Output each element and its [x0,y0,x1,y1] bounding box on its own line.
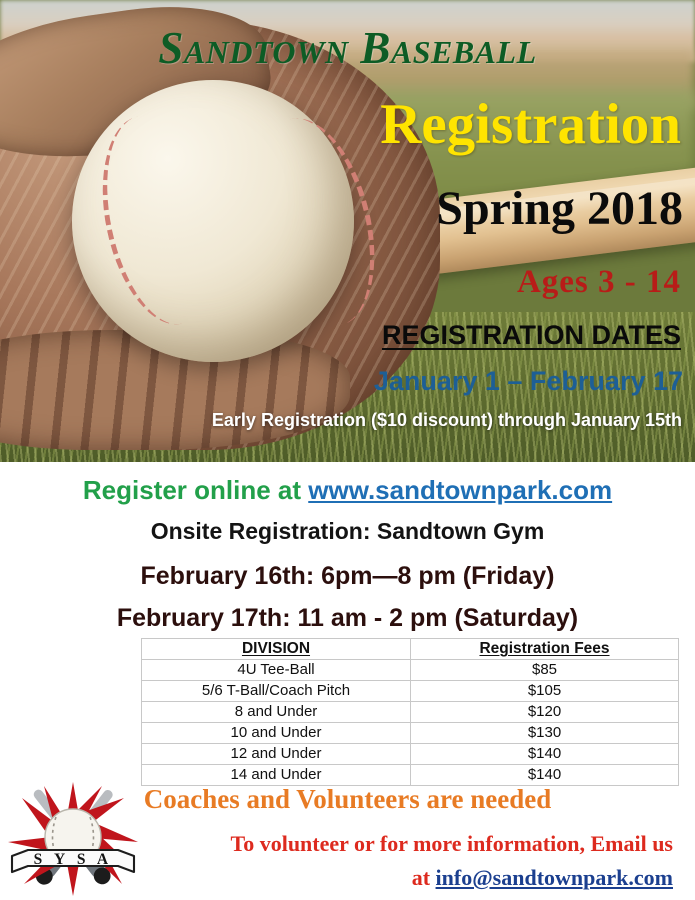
flyer-title: Sandtown Baseball [0,22,695,74]
sandtownpark-website-link[interactable]: www.sandtownpark.com [308,475,612,505]
age-range-label: Ages 3 - 14 [517,264,681,301]
session-saturday-line: February 17th: 11 am - 2 pm (Saturday) [0,604,695,633]
fee-cell: $105 [411,681,679,702]
fee-cell: $120 [411,702,679,723]
division-cell: 10 and Under [142,723,411,744]
registration-headline: Registration [380,92,681,157]
division-cell: 4U Tee-Ball [142,660,411,681]
register-online-prefix: Register online at [83,475,308,505]
sysa-logo-text: S Y S A [34,851,113,868]
column-header-division: DIVISION [142,639,411,660]
season-headline: Spring 2018 [436,181,683,236]
fee-cell: $130 [411,723,679,744]
registration-date-range: January 1 – February 17 [374,366,683,397]
table-row: 4U Tee-Ball $85 [142,660,679,681]
table-row: 14 and Under $140 [142,765,679,786]
contact-email-link[interactable]: info@sandtownpark.com [436,865,673,890]
email-prefix: at [412,865,436,890]
table-row: 12 and Under $140 [142,744,679,765]
fee-cell: $140 [411,744,679,765]
email-contact-line: at info@sandtownpark.com [412,865,673,891]
column-header-fees: Registration Fees [411,639,679,660]
early-registration-note: Early Registration ($10 discount) throug… [212,410,682,431]
register-online-line: Register online at www.sandtownpark.com [0,475,695,506]
division-cell: 12 and Under [142,744,411,765]
volunteer-info-line: To volunteer or for more information, Em… [231,831,673,857]
registration-dates-heading: REGISTRATION DATES [382,320,681,351]
sysa-logo: S Y S A [4,780,142,898]
fee-cell: $140 [411,765,679,786]
baseball-icon [72,80,354,362]
table-header-row: DIVISION Registration Fees [142,639,679,660]
baseball-seam-left [85,105,235,335]
division-cell: 14 and Under [142,765,411,786]
fee-cell: $85 [411,660,679,681]
session-friday-line: February 16th: 6pm—8 pm (Friday) [0,562,695,591]
registration-fees-table: DIVISION Registration Fees 4U Tee-Ball $… [141,638,679,786]
division-cell: 8 and Under [142,702,411,723]
division-cell: 5/6 T-Ball/Coach Pitch [142,681,411,702]
table-row: 5/6 T-Ball/Coach Pitch $105 [142,681,679,702]
table-row: 10 and Under $130 [142,723,679,744]
hero-photo-banner: Sandtown Baseball Registration Spring 20… [0,0,695,462]
onsite-registration-line: Onsite Registration: Sandtown Gym [0,518,695,545]
table-row: 8 and Under $120 [142,702,679,723]
flyer-body: Register online at www.sandtownpark.com … [0,462,695,900]
